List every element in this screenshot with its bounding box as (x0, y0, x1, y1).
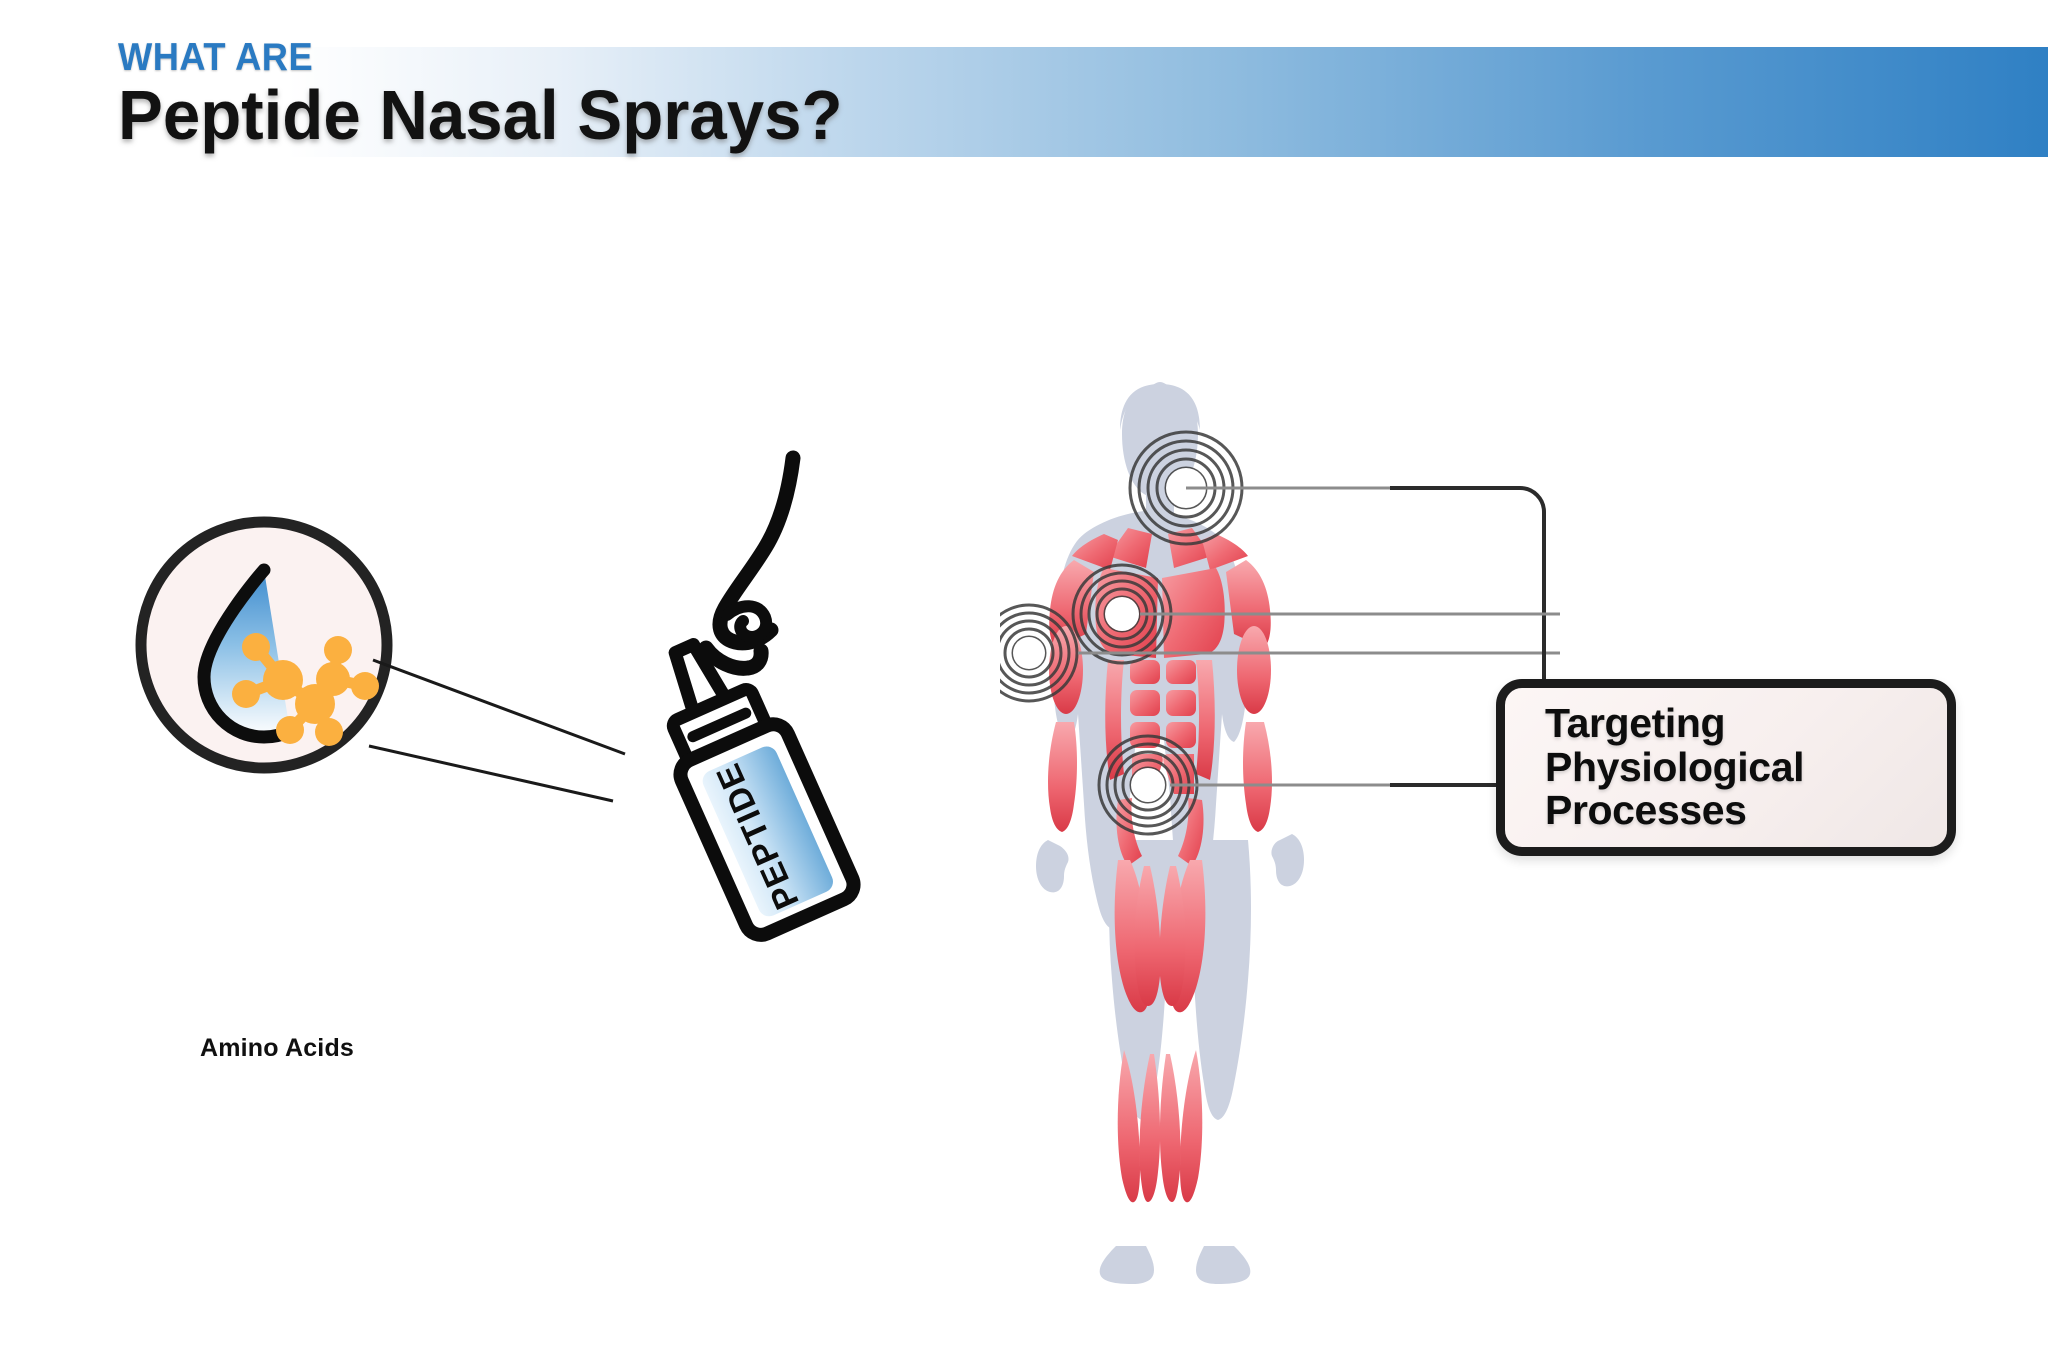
nasal-spray-group: PEPTIDE (575, 430, 895, 1070)
header-eyebrow: WHAT ARE (118, 38, 1141, 77)
amino-acids-label: Amino Acids (147, 1034, 407, 1063)
droplet-molecule-icon (133, 514, 395, 776)
callout-text: Targeting Physiological Processes (1505, 702, 1804, 834)
nose-profile-icon (706, 458, 793, 668)
targeting-callout-box[interactable]: Targeting Physiological Processes (1496, 679, 1956, 856)
page-title: Peptide Nasal Sprays? (118, 79, 1174, 152)
amino-acids-circle (133, 514, 395, 776)
header-text-block: WHAT ARE Peptide Nasal Sprays? (118, 38, 1218, 168)
